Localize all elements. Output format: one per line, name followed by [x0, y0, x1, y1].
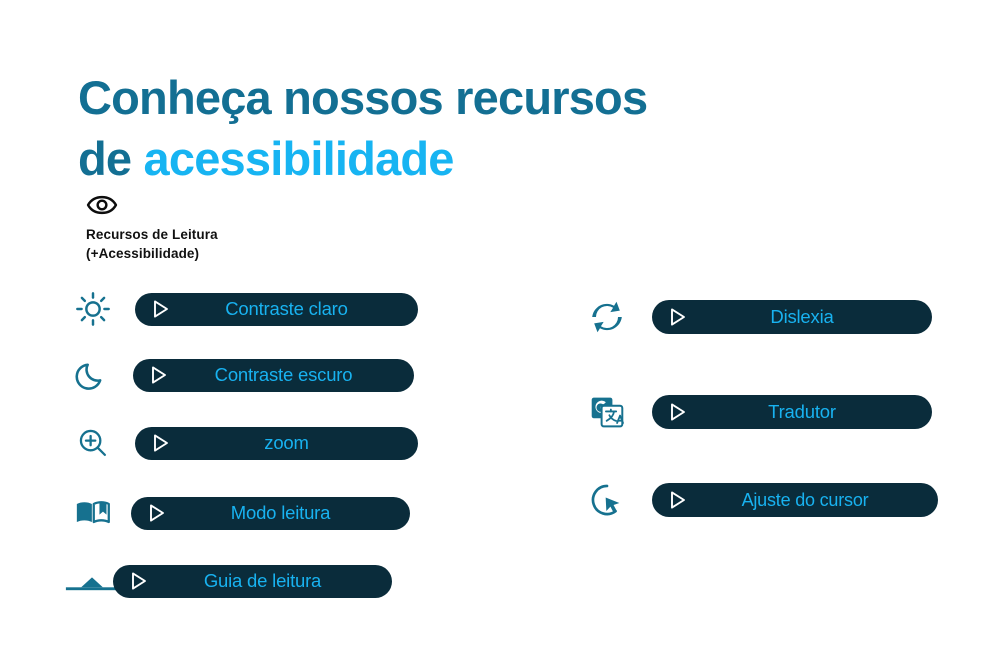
play-icon	[127, 570, 149, 592]
section-label: Recursos de Leitura (+Acessibilidade)	[86, 225, 386, 263]
feature-row-tradutor[interactable]: Tradutor	[584, 389, 964, 435]
feature-button-zoom[interactable]: zoom	[135, 427, 418, 460]
play-icon	[149, 298, 171, 320]
play-icon	[149, 432, 171, 454]
feature-button-ajuste-do-cursor[interactable]: Ajuste do cursor	[652, 483, 938, 517]
moon-icon	[70, 352, 116, 398]
feature-button-dislexia[interactable]: Dislexia	[652, 300, 932, 334]
feature-row-modo-leitura[interactable]: Modo leitura	[70, 490, 450, 536]
feature-label: Ajuste do cursor	[688, 490, 922, 510]
eye-icon	[86, 194, 118, 216]
refresh-icon	[584, 294, 630, 340]
feature-row-guia-leitura[interactable]: Guia de leitura	[70, 558, 450, 604]
section-label-line-2: (+Acessibilidade)	[86, 246, 199, 261]
feature-label: Tradutor	[688, 402, 916, 422]
right-feature-column: Dislexia Tradutor	[584, 294, 964, 523]
translate-icon	[584, 389, 630, 435]
feature-row-ajuste-do-cursor[interactable]: Ajuste do cursor	[584, 477, 964, 523]
open-book-icon	[70, 490, 116, 536]
play-icon	[147, 364, 169, 386]
play-icon	[145, 502, 167, 524]
feature-row-zoom[interactable]: zoom	[70, 420, 450, 466]
feature-row-contraste-escuro[interactable]: Contraste escuro	[70, 352, 450, 398]
sun-icon	[70, 286, 116, 332]
page-title-line-1: Conheça nossos recursos	[78, 71, 647, 124]
left-feature-column: Contraste claro Contraste escuro	[70, 286, 450, 604]
section-label-line-1: Recursos de Leitura	[86, 227, 218, 242]
play-icon	[666, 306, 688, 328]
zoom-in-icon	[70, 420, 116, 466]
feature-label: Guia de leitura	[149, 571, 376, 591]
feature-button-contraste-claro[interactable]: Contraste claro	[135, 293, 418, 326]
page-title-line-2-prefix: de	[78, 132, 144, 185]
feature-button-contraste-escuro[interactable]: Contraste escuro	[133, 359, 414, 392]
page-title: Conheça nossos recursos de acessibilidad…	[78, 67, 838, 189]
feature-button-modo-leitura[interactable]: Modo leitura	[131, 497, 410, 530]
feature-label: Contraste claro	[171, 299, 402, 319]
page-title-accent: acessibilidade	[144, 132, 454, 185]
feature-label: Contraste escuro	[169, 365, 398, 385]
feature-label: zoom	[171, 433, 402, 453]
feature-button-guia-de-leitura[interactable]: Guia de leitura	[113, 565, 392, 598]
section-header: Recursos de Leitura (+Acessibilidade)	[86, 194, 386, 263]
play-icon	[666, 489, 688, 511]
cursor-icon	[584, 477, 630, 523]
feature-row-contraste-claro[interactable]: Contraste claro	[70, 286, 450, 332]
feature-button-tradutor[interactable]: Tradutor	[652, 395, 932, 429]
feature-row-dislexia[interactable]: Dislexia	[584, 294, 964, 340]
feature-label: Dislexia	[688, 307, 916, 327]
play-icon	[666, 401, 688, 423]
feature-label: Modo leitura	[167, 503, 394, 523]
